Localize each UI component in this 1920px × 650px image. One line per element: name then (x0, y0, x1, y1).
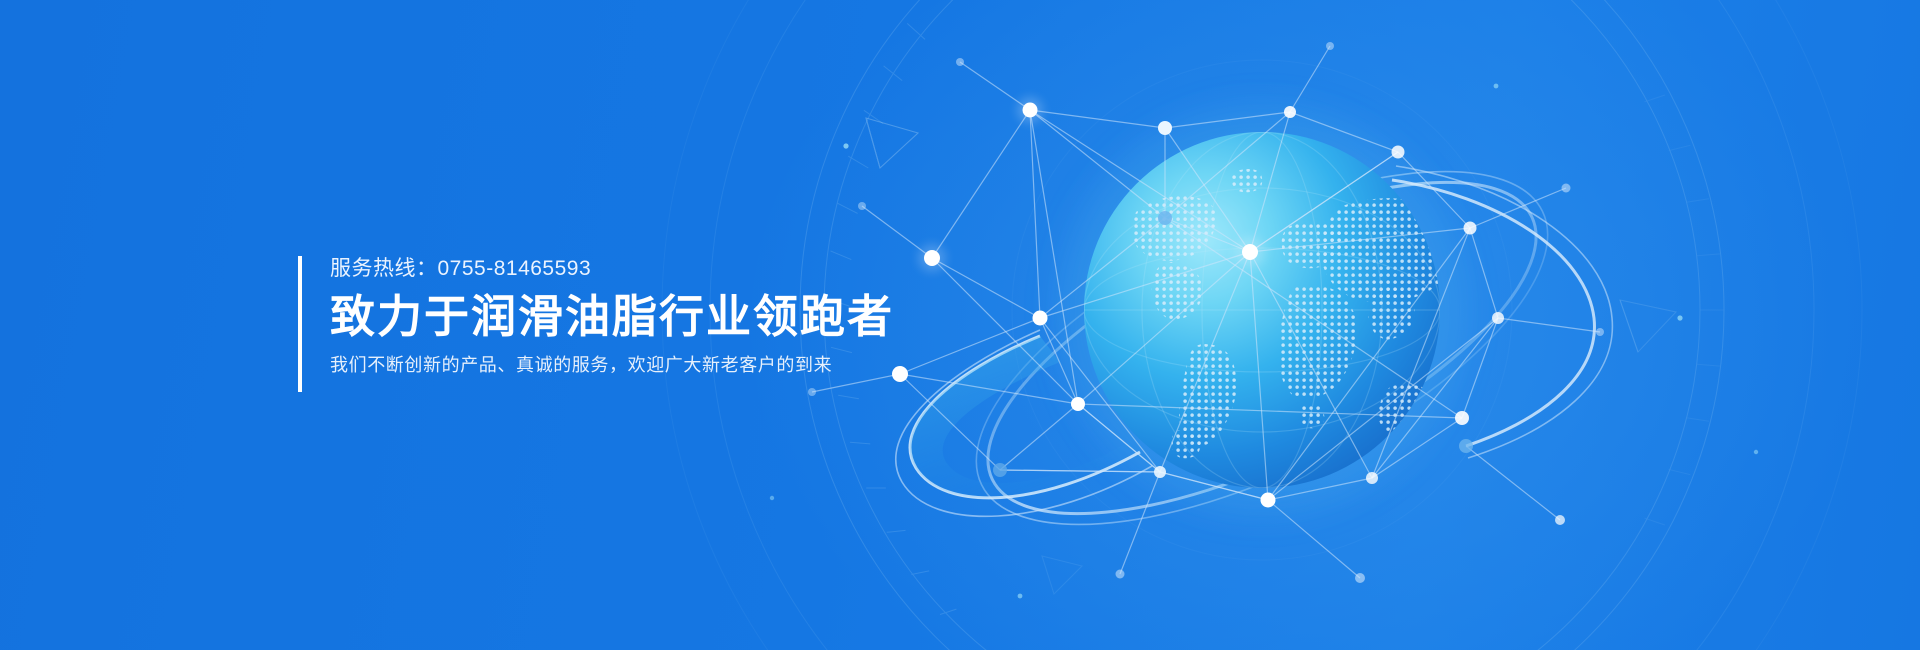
globe-dot-map (1084, 132, 1458, 488)
wireframe-triangle-decoration (866, 118, 1676, 594)
banner-subheadline: 我们不断创新的产品、真诚的服务，欢迎广大新老客户的到来 (330, 339, 894, 374)
orbit-ring-back (927, 100, 1597, 596)
banner-headline: 致力于润滑油脂行业领跑者 (330, 279, 894, 339)
network-links (812, 46, 1600, 578)
network-nodes (770, 42, 1758, 598)
service-hotline-text: 服务热线：0755-81465593 (330, 256, 894, 279)
globe-sphere (1084, 132, 1440, 488)
orbit-ring-front (896, 166, 1613, 516)
hero-banner: 服务热线：0755-81465593 致力于润滑油脂行业领跑者 我们不断创新的产… (0, 0, 1920, 650)
banner-text-block: 服务热线：0755-81465593 致力于润滑油脂行业领跑者 我们不断创新的产… (298, 256, 894, 392)
network-globe-illustration (0, 0, 1920, 650)
